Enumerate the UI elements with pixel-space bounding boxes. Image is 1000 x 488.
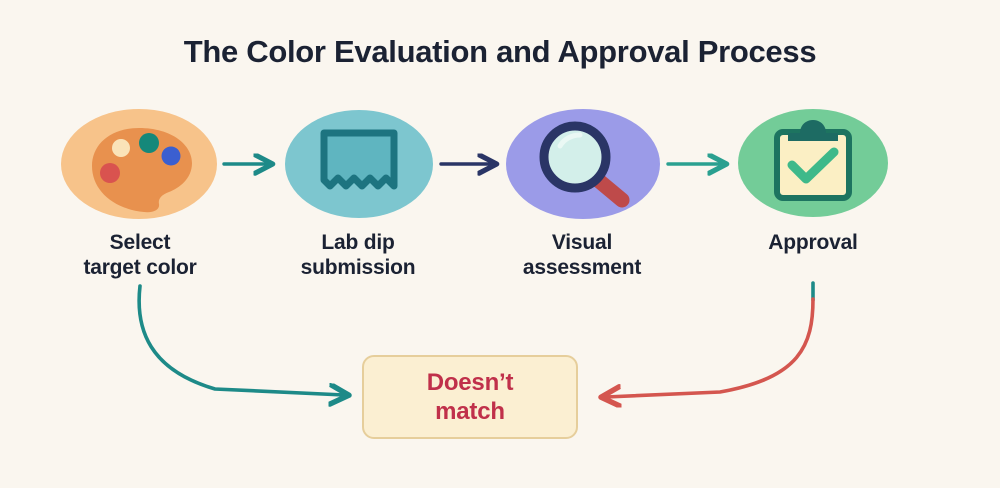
step-label-line2: assessment: [523, 256, 641, 279]
step-label-visual-assessment: Visual assessment: [482, 230, 682, 280]
step-node-approval[interactable]: [738, 109, 888, 217]
step-label-line1: Approval: [768, 231, 857, 254]
doesnt-match-line1: Doesn’t: [427, 369, 514, 396]
step-label-line1: Select: [110, 231, 171, 254]
step-node-visual-assessment[interactable]: [506, 109, 660, 219]
clipboard-check-icon: [777, 120, 849, 198]
step-label-line2: submission: [301, 256, 416, 279]
doesnt-match-line2: match: [435, 398, 505, 425]
step-label-line1: Lab dip: [321, 231, 394, 254]
doesnt-match-label: Doesn’t match: [427, 368, 514, 426]
step-label-lab-dip-submission: Lab dip submission: [258, 230, 458, 280]
doesnt-match-box[interactable]: Doesn’t match: [362, 355, 578, 439]
loop-approval-to-reject: [606, 283, 813, 397]
step-label-approval: Approval: [713, 230, 913, 255]
fabric-swatch-icon: [324, 133, 394, 186]
flowchart-canvas: The Color Evaluation and Approval Proces…: [0, 0, 1000, 488]
loop-reject-to-select: [139, 286, 344, 395]
step-node-lab-dip-submission[interactable]: [285, 110, 433, 218]
step-label-line1: Visual: [552, 231, 612, 254]
step-label-line2: target color: [83, 256, 196, 279]
step-label-select-target-color: Select target color: [40, 230, 240, 280]
step-node-select-target-color[interactable]: [61, 109, 217, 219]
